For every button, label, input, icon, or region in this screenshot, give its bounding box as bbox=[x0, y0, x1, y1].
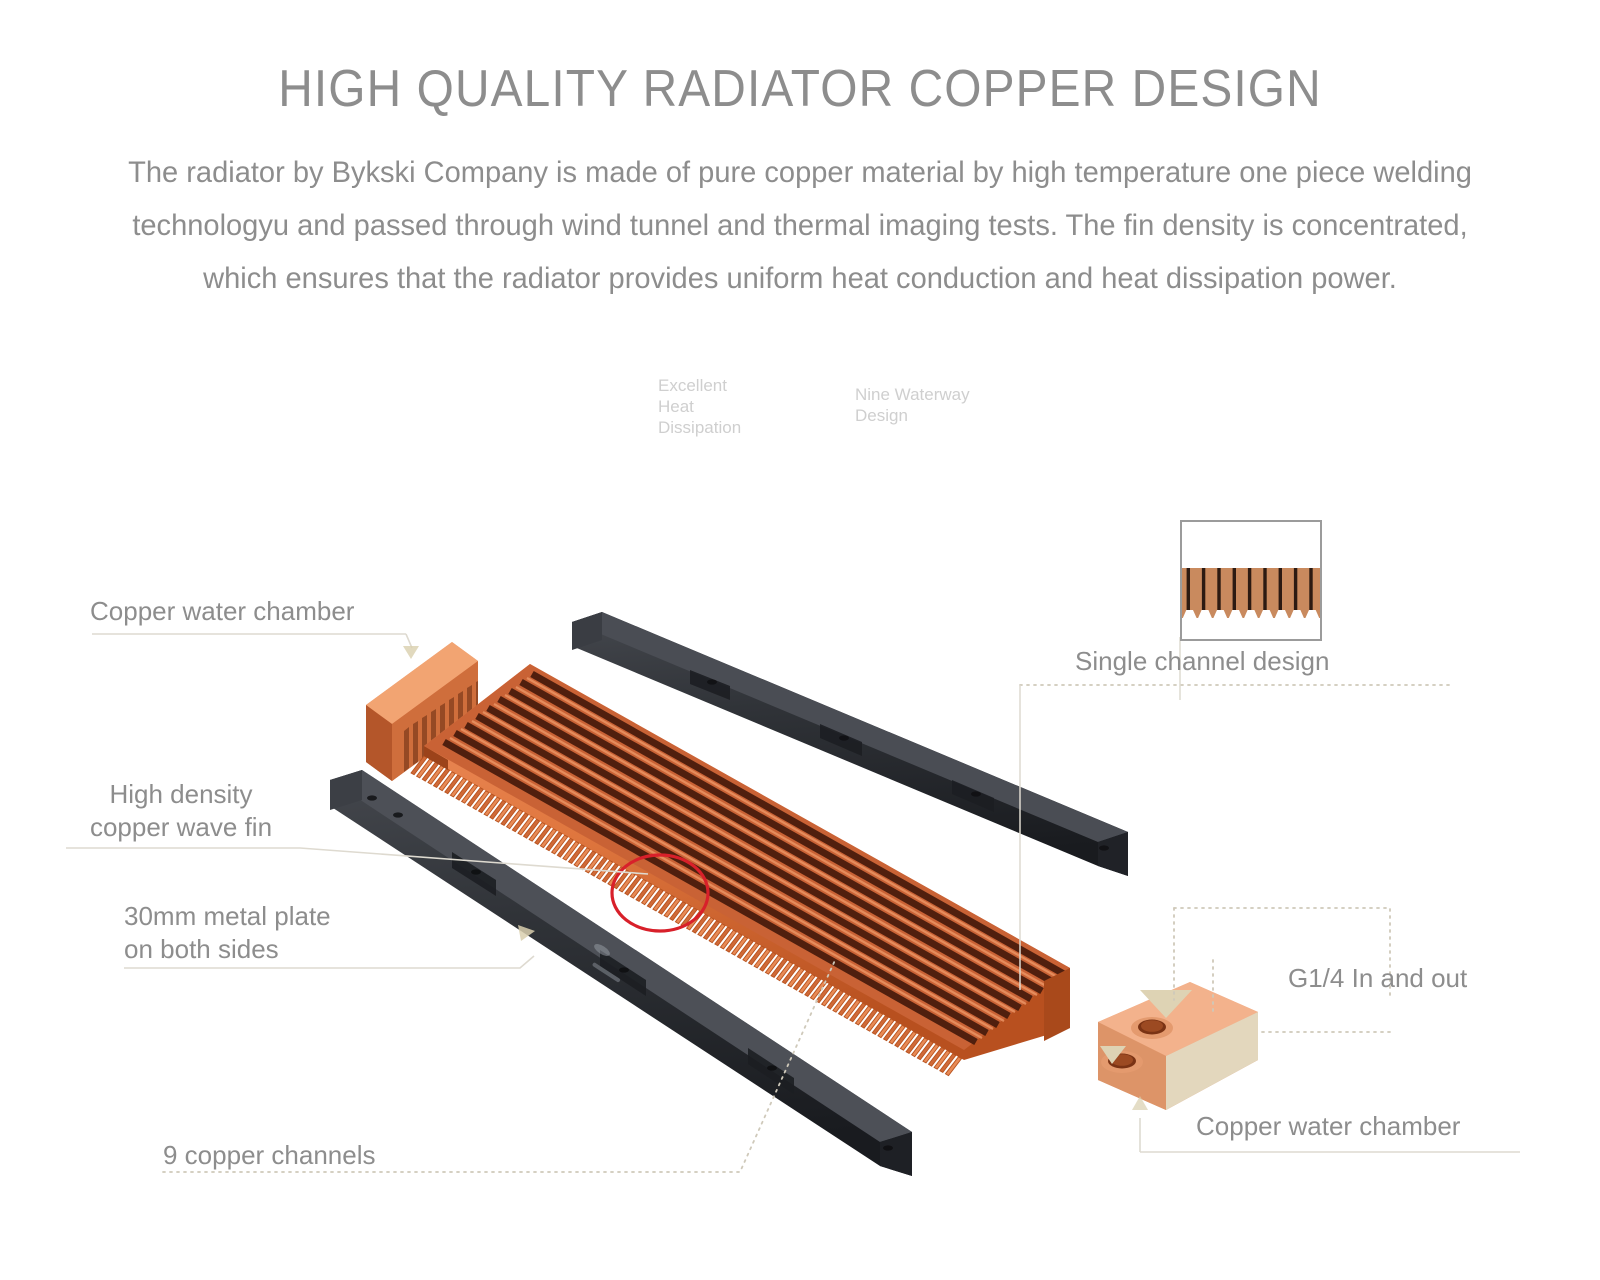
fin-highlight-circle bbox=[612, 855, 708, 931]
part-black-side-plate-top bbox=[572, 612, 1128, 876]
intro-paragraph: The radiator by Bykski Company is made o… bbox=[120, 146, 1479, 305]
feature-caption-heat-dissipation: Excellent Heat Dissipation bbox=[658, 375, 741, 438]
brand-mark-bykski bbox=[592, 942, 621, 983]
g14-ports bbox=[1101, 1017, 1173, 1073]
fin-inset-graphic bbox=[1182, 522, 1320, 639]
callout-g14-in-and-out: G1/4 In and out bbox=[1288, 962, 1467, 995]
part-copper-water-chamber-bottom-right bbox=[1098, 982, 1258, 1110]
callout-copper-water-chamber-right: Copper water chamber bbox=[1196, 1110, 1460, 1143]
callout-high-density-copper-wave-fin: High density copper wave fin bbox=[66, 778, 296, 844]
callout-copper-water-chamber-left: Copper water chamber bbox=[90, 595, 354, 628]
callout-metal-plate: 30mm metal plate on both sides bbox=[124, 900, 331, 966]
page-title: HIGH QUALITY RADIATOR COPPER DESIGN bbox=[64, 58, 1536, 120]
copper-wave-fins bbox=[411, 756, 962, 1076]
callout-copper-channels: 9 copper channels bbox=[163, 1139, 375, 1172]
callout-single-channel-design: Single channel design bbox=[1075, 645, 1329, 678]
part-copper-fin-core bbox=[411, 664, 1070, 1076]
fin-magnification-inset bbox=[1180, 520, 1322, 641]
part-black-side-plate-bottom bbox=[330, 770, 912, 1176]
feature-caption-nine-waterway: Nine Waterway Design bbox=[855, 384, 970, 426]
part-copper-water-chamber-top-left bbox=[366, 642, 478, 781]
